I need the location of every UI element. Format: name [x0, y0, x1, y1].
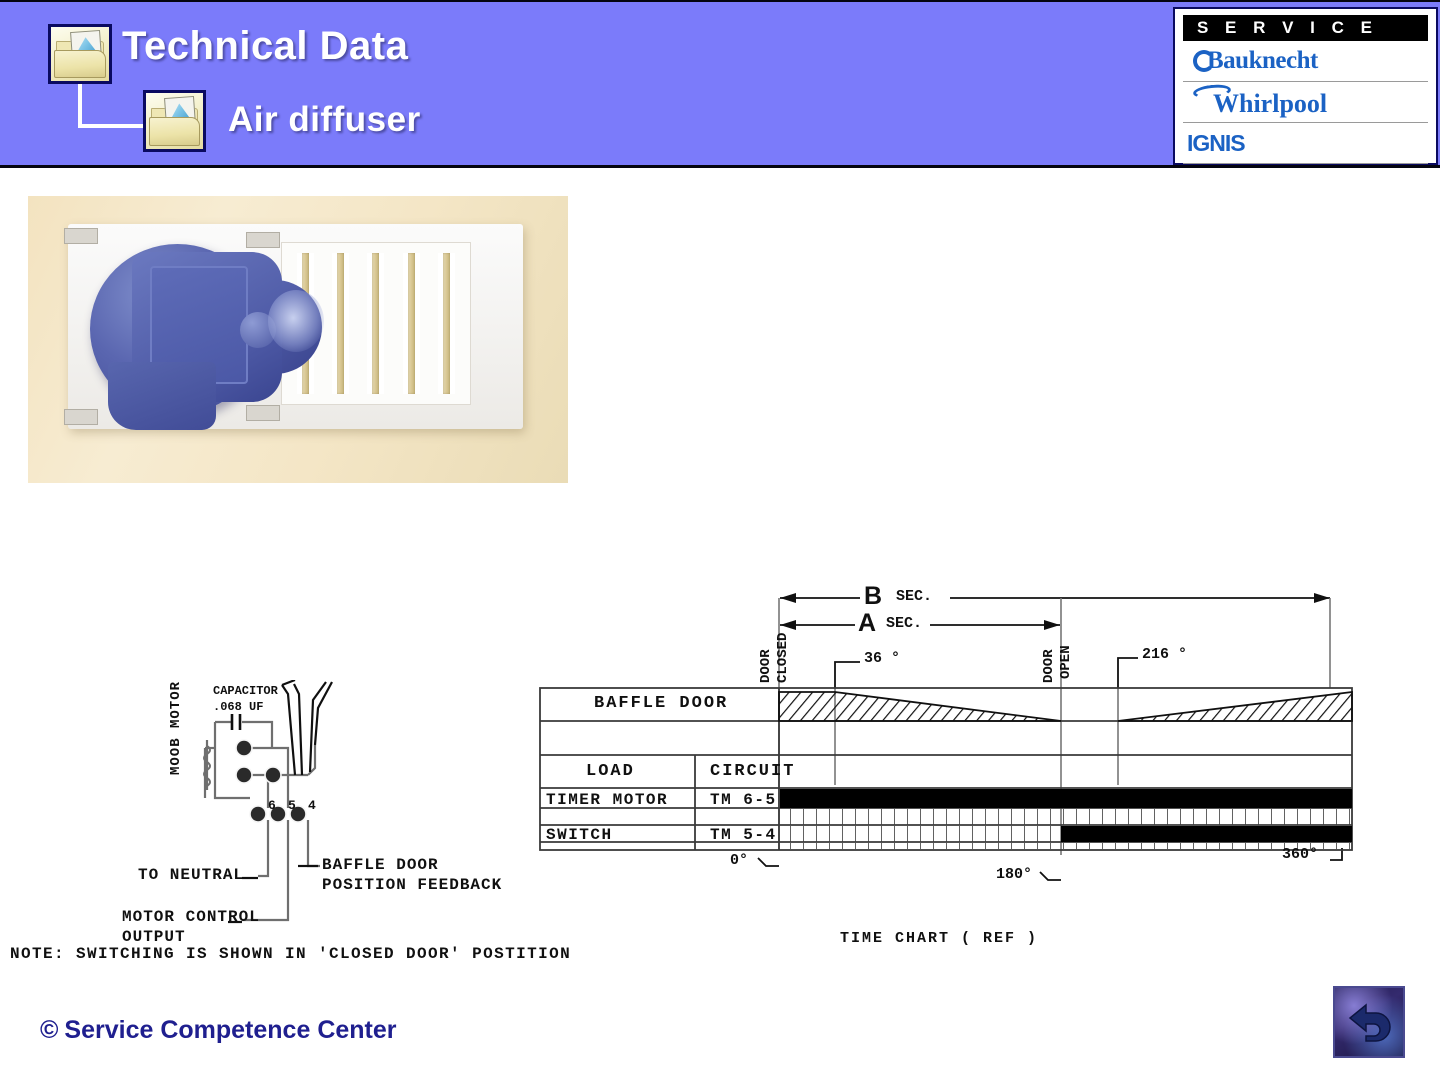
switch-ticks-left: [780, 826, 1061, 842]
terminal-number-5: 5: [288, 798, 296, 813]
motor-highlight: [268, 290, 324, 352]
capacitor-label-line2: .068 UF: [213, 700, 263, 714]
wiring-note: NOTE: SWITCHING IS SHOWN IN 'CLOSED DOOR…: [10, 945, 571, 963]
time-chart: B SEC. A SEC. DOOR CLOSED DOOR OPEN 36 °…: [530, 580, 1380, 890]
baffle-door-motor: [90, 234, 345, 424]
page-title: Technical Data: [122, 24, 408, 69]
callout-position-feedback: POSITION FEEDBACK: [322, 876, 502, 894]
motor-label: MOOB MOTOR: [168, 681, 184, 775]
brand-panel: S E R V I C E Bauknecht Whirlpool IGNIS: [1173, 7, 1438, 165]
terminal-number-6: 6: [268, 798, 276, 813]
angle-callout-36: 36 °: [864, 650, 900, 667]
folder-front: [54, 50, 106, 78]
footer-copyright: ©Service Competence Center: [40, 1016, 397, 1045]
folder-photo-icon: [48, 24, 112, 84]
row-label-baffle-door: BAFFLE DOOR: [594, 694, 728, 713]
folder-photo-icon: [143, 90, 206, 152]
callout-baffle-door: BAFFLE DOOR: [322, 856, 439, 874]
tree-connector-vertical: [78, 84, 82, 128]
column-header-circuit: CIRCUIT: [710, 762, 795, 781]
brand-row-ignis: IGNIS: [1183, 123, 1428, 164]
marker-door-closed-line2: CLOSED: [775, 633, 791, 683]
angle-callout-216: 216 °: [1142, 646, 1187, 663]
row-label-timer-motor: TIMER MOTOR: [546, 791, 668, 809]
switch-ticks-bottom: [780, 843, 1352, 849]
timer-motor-band: [780, 789, 1352, 808]
copyright-icon: ©: [40, 1016, 58, 1044]
product-photo: [28, 196, 568, 483]
time-chart-caption: TIME CHART ( REF ): [840, 930, 1038, 947]
callout-motor-control: MOTOR CONTROL: [122, 908, 260, 926]
louver-blade: [438, 253, 455, 394]
row-label-switch: SWITCH: [546, 826, 613, 844]
callout-motor-control-output: OUTPUT: [122, 928, 186, 946]
diffuser-plate: [68, 224, 523, 429]
wiring-diagram: CAPACITOR .068 UF MOOB MOTOR 6 5 4 TO NE…: [10, 680, 555, 980]
dimension-b: [780, 593, 1330, 603]
column-header-load: LOAD: [586, 762, 635, 781]
capacitor-label-line1: CAPACITOR: [213, 684, 278, 698]
row-circuit-timer-motor: TM 6-5: [710, 791, 777, 809]
back-arrow-icon: [1346, 1002, 1392, 1042]
dimension-unit-a: SEC.: [886, 615, 922, 632]
folder-front: [149, 117, 200, 146]
baffle-door-profile: [779, 692, 1352, 721]
marker-door-closed-line1: DOOR: [758, 649, 774, 683]
louver-blade: [403, 253, 420, 394]
dimension-label-b: B: [864, 582, 882, 611]
time-chart-svg: [530, 580, 1380, 890]
page-subtitle: Air diffuser: [228, 100, 421, 140]
bauknecht-logo-icon: [1193, 50, 1215, 72]
service-banner: S E R V I C E: [1183, 15, 1428, 41]
brand-name-ignis: IGNIS: [1183, 130, 1245, 157]
brand-row-bauknecht: Bauknecht: [1183, 41, 1428, 82]
callout-to-neutral: TO NEUTRAL: [138, 866, 244, 884]
wiring-diagram-svg: [10, 680, 555, 980]
x-tick-180: 180°: [996, 866, 1032, 883]
marker-door-open-line2: OPEN: [1058, 645, 1074, 679]
terminal-number-4: 4: [308, 798, 316, 813]
louver-blade: [367, 253, 384, 394]
back-button[interactable]: [1333, 986, 1405, 1058]
marker-door-open-line1: DOOR: [1041, 649, 1057, 683]
dimension-label-a: A: [858, 609, 876, 638]
x-tick-0: 0°: [730, 852, 748, 869]
dimension-unit-b: SEC.: [896, 588, 932, 605]
motor-tail: [108, 362, 216, 430]
row-circuit-switch: TM 5-4: [710, 826, 777, 844]
x-tick-360: 360°: [1282, 846, 1318, 863]
brand-row-whirlpool: Whirlpool: [1183, 82, 1428, 123]
tree-connector-horizontal: [78, 124, 146, 128]
switch-band: [1061, 826, 1352, 842]
timer-motor-ticks: [780, 809, 1352, 825]
footer-text: Service Competence Center: [64, 1016, 396, 1044]
page-header: Technical Data Air diffuser S E R V I C …: [0, 0, 1440, 168]
